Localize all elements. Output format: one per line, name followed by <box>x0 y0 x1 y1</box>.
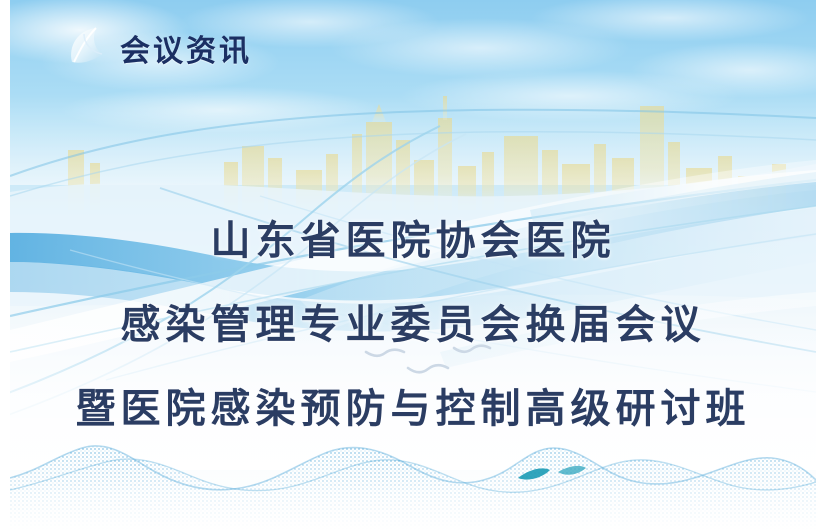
logo-text: 会议资讯 <box>120 26 252 70</box>
title-line-1: 山东省医院协会医院 <box>10 208 816 266</box>
banner-artwork: 会议资讯 山东省医院协会医院 感染管理专业委员会换届会议 暨医院感染预防与控制高… <box>10 0 816 530</box>
title-line-3: 暨医院感染预防与控制高级研讨班 <box>10 376 816 434</box>
conference-banner: 会议资讯 山东省医院协会医院 感染管理专业委员会换届会议 暨医院感染预防与控制高… <box>0 0 827 530</box>
title-line-2: 感染管理专业委员会换届会议 <box>10 292 816 350</box>
logo: 会议资讯 <box>62 22 252 74</box>
banner-title-block: 山东省医院协会医院 感染管理专业委员会换届会议 暨医院感染预防与控制高级研讨班 <box>10 0 816 530</box>
ribbon-swoosh-logo-icon <box>62 22 114 74</box>
